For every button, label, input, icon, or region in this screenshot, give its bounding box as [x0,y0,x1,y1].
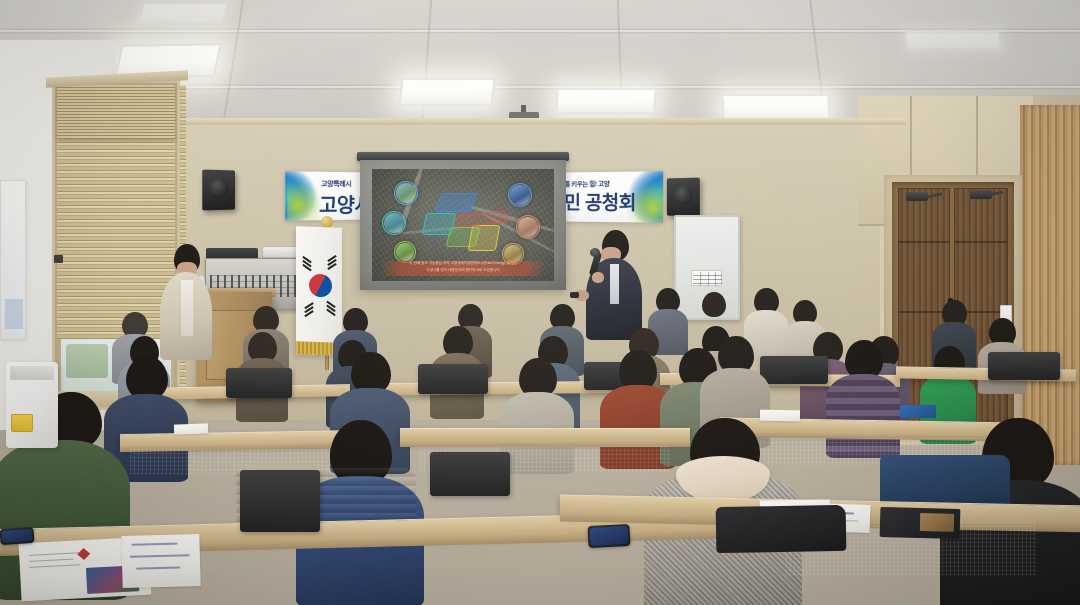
brochure-dark[interactable] [880,507,961,539]
slide-caption-line1: 두 번째 창조 기능중심 지역 고양국제자유벤처도시(Park Energy) … [380,261,546,266]
slide-callout-upper-left [394,181,418,205]
ceiling-light-panel [137,2,229,24]
chair[interactable] [988,352,1060,380]
wall-notice [0,180,26,340]
speaker-shirt [610,264,619,304]
presentation-remote[interactable] [570,292,579,298]
chair-front[interactable] [240,470,320,532]
booklet-logo-icon [77,548,91,561]
banner-left-subtitle: 고양특례시 [321,179,351,189]
slide-caption-line2: 고양시를 담아 대한민국의 랜드마크로 조성합니다 [380,268,546,273]
right-wall-slat-panel [1020,105,1080,465]
blue-brochure[interactable] [900,405,936,418]
speaker-microphone [586,230,642,340]
chair-front[interactable] [430,452,510,496]
blinds-bunched-top[interactable] [57,85,175,139]
slide-callout-upper-right [508,183,532,207]
bag-on-table [716,505,847,553]
wall-notice-block [5,299,23,329]
presenter-shirt [181,280,193,336]
chair[interactable] [418,364,488,394]
phone-on-table-left[interactable] [0,527,35,545]
handout-sheet[interactable] [121,534,200,588]
chair[interactable] [226,368,292,398]
ceiling-light-panel [555,88,656,114]
map-zone-blue [435,193,478,212]
wall-speaker-right [667,178,700,217]
jacket-on-chair [880,455,1010,507]
slide-callout-mid-right [516,215,540,239]
map-zone-yellow [468,225,501,251]
slide-caption-bar: 두 번째 창조 기능중심 지역 고양국제자유벤처도시(Park Energy) … [380,261,546,276]
wall-speaker-left [202,170,235,211]
air-purifier-top-vent [10,366,54,380]
presentation-slide: 두 번째 창조 기능중심 지역 고양국제자유벤처도시(Park Energy) … [372,169,554,281]
window-foliage [66,344,108,378]
door-closer-left [906,192,928,201]
seminar-room-photo: 고양특례시 고양시 미래를 키우는 힘! 고양 주민 공청회 [0,0,1080,605]
handout-paper[interactable] [174,423,208,434]
ceiling-light-panel [399,78,496,106]
ceiling-light-panel [721,94,830,120]
phone-on-table-center[interactable] [587,524,630,548]
projection-screen: 두 번째 창조 기능중심 지역 고양국제자유벤처도시(Park Energy) … [360,160,566,290]
window-blinds[interactable] [57,139,175,339]
slide-callout-mid-left [382,211,406,235]
slide-callout-lower-left [394,241,416,263]
whiteboard-posted-table [691,270,722,286]
window-handle[interactable] [54,255,63,263]
air-purifier[interactable] [6,362,58,448]
taegeuk-symbol [305,270,337,302]
chair[interactable] [760,356,828,384]
speaker-hand-mic [592,272,604,283]
ceiling-light-panel [903,30,1002,50]
microphone-head-icon [590,248,600,257]
wall-cornice [136,118,906,125]
certification-label [11,414,33,432]
